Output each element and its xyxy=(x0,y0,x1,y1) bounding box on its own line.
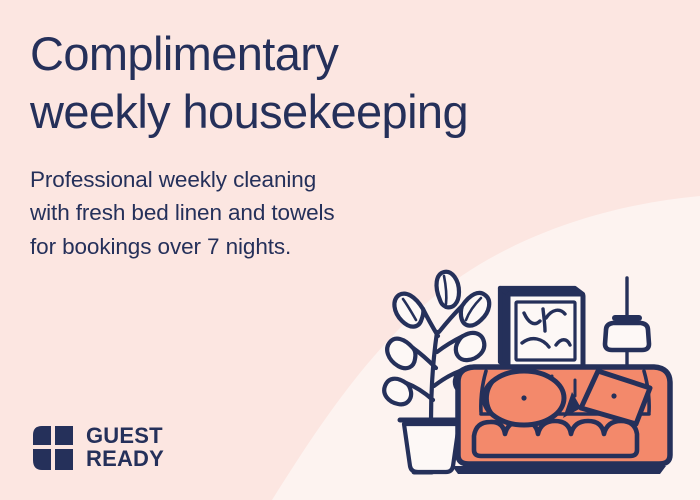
guestready-logo: GUEST READY xyxy=(31,424,164,472)
subheading: Professional weekly cleaning with fresh … xyxy=(30,163,450,263)
guestready-quadrant-mark xyxy=(31,424,75,472)
promo-card: Complimentary weekly housekeeping Profes… xyxy=(0,0,700,500)
subhead-line-1: Professional weekly cleaning xyxy=(30,163,450,196)
logo-word-line-1: GUEST xyxy=(86,425,164,448)
subhead-line-3: for bookings over 7 nights. xyxy=(30,230,450,263)
page-title: Complimentary weekly housekeeping xyxy=(30,25,630,141)
headline-line-1: Complimentary xyxy=(30,25,630,83)
headline-line-2: weekly housekeeping xyxy=(30,83,630,141)
subhead-line-2: with fresh bed linen and towels xyxy=(30,196,450,229)
logo-word-line-2: READY xyxy=(86,448,164,471)
logo-wordmark: GUEST READY xyxy=(86,425,164,470)
